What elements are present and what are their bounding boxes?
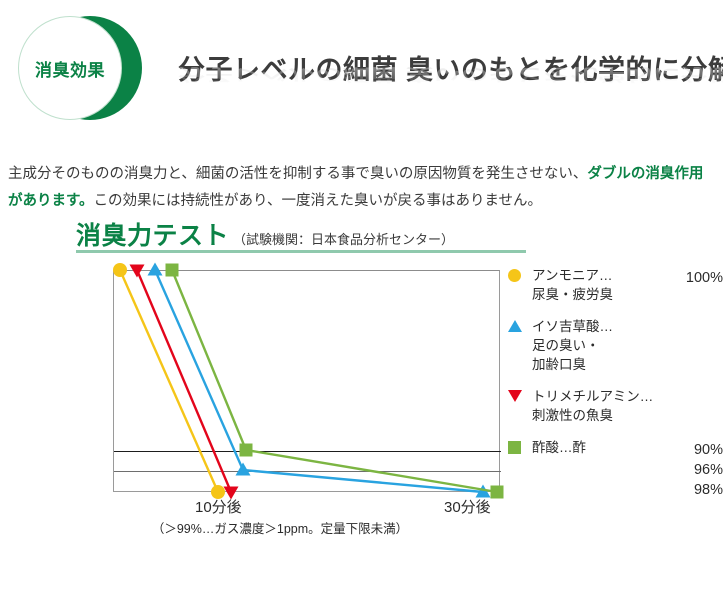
legend-item-trimethylamine[interactable]: トリメチルアミン… 刺激性の魚臭 [506,387,716,425]
legend-item-label-line1: アンモニア… [532,266,716,285]
x-axis-tick-10min: 10分後 [195,496,242,517]
lead-paragraph: 主成分そのものの消臭力と、細菌の活性を抑制する事で臭いの原因物質を発生させない、… [8,161,714,215]
header-banner: 消臭効果 分子レベルの細菌 臭いのもとを化学的に分解 分子レベルの細菌 臭いのも… [0,0,723,130]
legend-item-label-line3: 加齢口臭 [532,355,716,374]
y-axis-tick-98: 98% [671,482,723,498]
legend-item-acetic-acid[interactable]: 酢酸…酢 [506,438,716,457]
chart-title: 消臭力テスト [76,216,229,252]
legend-item-label-line1: イソ吉草酸… [532,317,716,336]
gridline-90 [114,451,501,452]
page-title: 分子レベルの細菌 臭いのもとを化学的に分解 [178,48,723,87]
legend-marker-square-icon [508,441,521,454]
x-axis-tick-30min: 30分後 [444,496,491,517]
legend-marker-triangle-up-icon [508,320,522,332]
chart-footnote: （＞99%…ガス濃度＞1ppm。定量下限未満） [0,518,560,537]
legend-item-ammonia[interactable]: アンモニア… 尿臭・疲労臭 [506,266,716,304]
gridline-96 [114,471,501,472]
legend-item-label-line1: トリメチルアミン… [532,387,716,406]
chart-legend: アンモニア… 尿臭・疲労臭 イソ吉草酸… 足の臭い・ 加齢口臭 トリメチルアミン… [506,266,716,470]
deodorizing-effect-badge: 消臭効果 [18,16,163,120]
chart-title-underline [76,250,526,253]
badge-label: 消臭効果 [18,16,122,120]
legend-item-isovaleric-acid[interactable]: イソ吉草酸… 足の臭い・ 加齢口臭 [506,317,716,374]
legend-marker-circle-icon [508,269,521,282]
legend-item-label-line2: 足の臭い・ [532,336,716,355]
chart-title-row: 消臭力テスト （試験機関：日本食品分析センター） [76,216,454,252]
lead-paragraph-part1: 主成分そのものの消臭力と、細菌の活性を抑制する事で臭いの原因物質を発生させない、 [8,166,587,182]
legend-item-label-line1: 酢酸…酢 [532,438,716,457]
legend-item-label-line2: 尿臭・疲労臭 [532,285,716,304]
legend-marker-triangle-down-icon [508,390,522,402]
chart-subtitle: （試験機関：日本食品分析センター） [233,229,454,248]
lead-paragraph-part2: この効果には持続性があり、一度消えた臭いが戻る事はありません。 [94,193,542,209]
legend-item-label-line2: 刺激性の魚臭 [532,406,716,425]
chart-plot-area [113,270,500,492]
